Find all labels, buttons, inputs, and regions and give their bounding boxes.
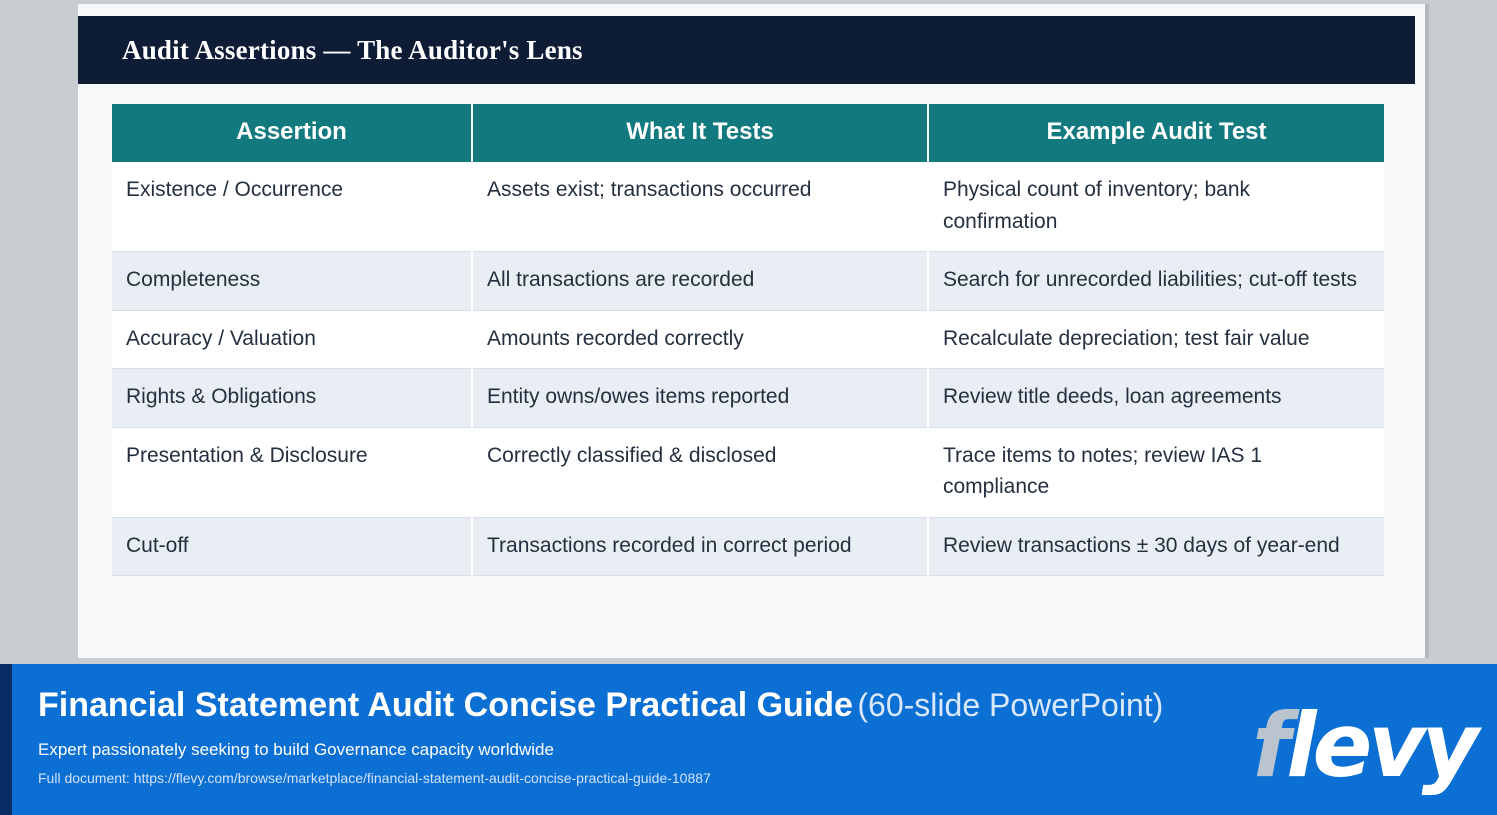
table-row: Rights & Obligations Entity owns/owes it… [112,369,1384,428]
cell-example-audit-test: Recalculate depreciation; test fair valu… [928,310,1384,369]
document-title: Financial Statement Audit Concise Practi… [38,686,853,724]
flevy-logo-f: f [1252,694,1286,797]
footer-tagline: Expert passionately seeking to build Gov… [38,740,1163,760]
column-header-assertion: Assertion [112,104,472,162]
footer-title-line: Financial Statement Audit Concise Practi… [38,686,1163,725]
column-header-what-it-tests: What It Tests [472,104,928,162]
slide-title-bar: Audit Assertions — The Auditor's Lens [78,16,1415,84]
cell-what-it-tests: All transactions are recorded [472,252,928,311]
cell-assertion: Completeness [112,252,472,311]
cell-example-audit-test: Trace items to notes; review IAS 1 compl… [928,427,1384,517]
footer-accent-stripe [0,664,12,815]
table-row: Cut-off Transactions recorded in correct… [112,517,1384,576]
cell-what-it-tests: Assets exist; transactions occurred [472,162,928,252]
column-header-example-audit-test: Example Audit Test [928,104,1384,162]
document-slide-count: (60-slide PowerPoint) [857,687,1163,723]
slide-title: Audit Assertions — The Auditor's Lens [78,35,583,66]
table-row: Existence / Occurrence Assets exist; tra… [112,162,1384,252]
cell-example-audit-test: Physical count of inventory; bank confir… [928,162,1384,252]
flevy-logo[interactable]: flevy [1252,702,1475,790]
cell-assertion: Rights & Obligations [112,369,472,428]
table-row: Accuracy / Valuation Amounts recorded co… [112,310,1384,369]
cell-assertion: Cut-off [112,517,472,576]
cell-what-it-tests: Entity owns/owes items reported [472,369,928,428]
footer-banner: Financial Statement Audit Concise Practi… [0,664,1497,815]
cell-example-audit-test: Review transactions ± 30 days of year-en… [928,517,1384,576]
flevy-logo-levy: levy [1286,694,1475,797]
table-header-row: Assertion What It Tests Example Audit Te… [112,104,1384,162]
footer-text-block: Financial Statement Audit Concise Practi… [38,686,1163,788]
cell-what-it-tests: Correctly classified & disclosed [472,427,928,517]
cell-assertion: Accuracy / Valuation [112,310,472,369]
cell-assertion: Existence / Occurrence [112,162,472,252]
cell-example-audit-test: Review title deeds, loan agreements [928,369,1384,428]
table-row: Completeness All transactions are record… [112,252,1384,311]
slide-canvas: Audit Assertions — The Auditor's Lens As… [78,4,1425,658]
cell-example-audit-test: Search for unrecorded liabilities; cut-o… [928,252,1384,311]
full-document-link[interactable]: Full document: https://flevy.com/browse/… [38,770,711,786]
cell-what-it-tests: Amounts recorded correctly [472,310,928,369]
cell-what-it-tests: Transactions recorded in correct period [472,517,928,576]
table-row: Presentation & Disclosure Correctly clas… [112,427,1384,517]
cell-assertion: Presentation & Disclosure [112,427,472,517]
audit-assertions-table: Assertion What It Tests Example Audit Te… [112,104,1384,576]
